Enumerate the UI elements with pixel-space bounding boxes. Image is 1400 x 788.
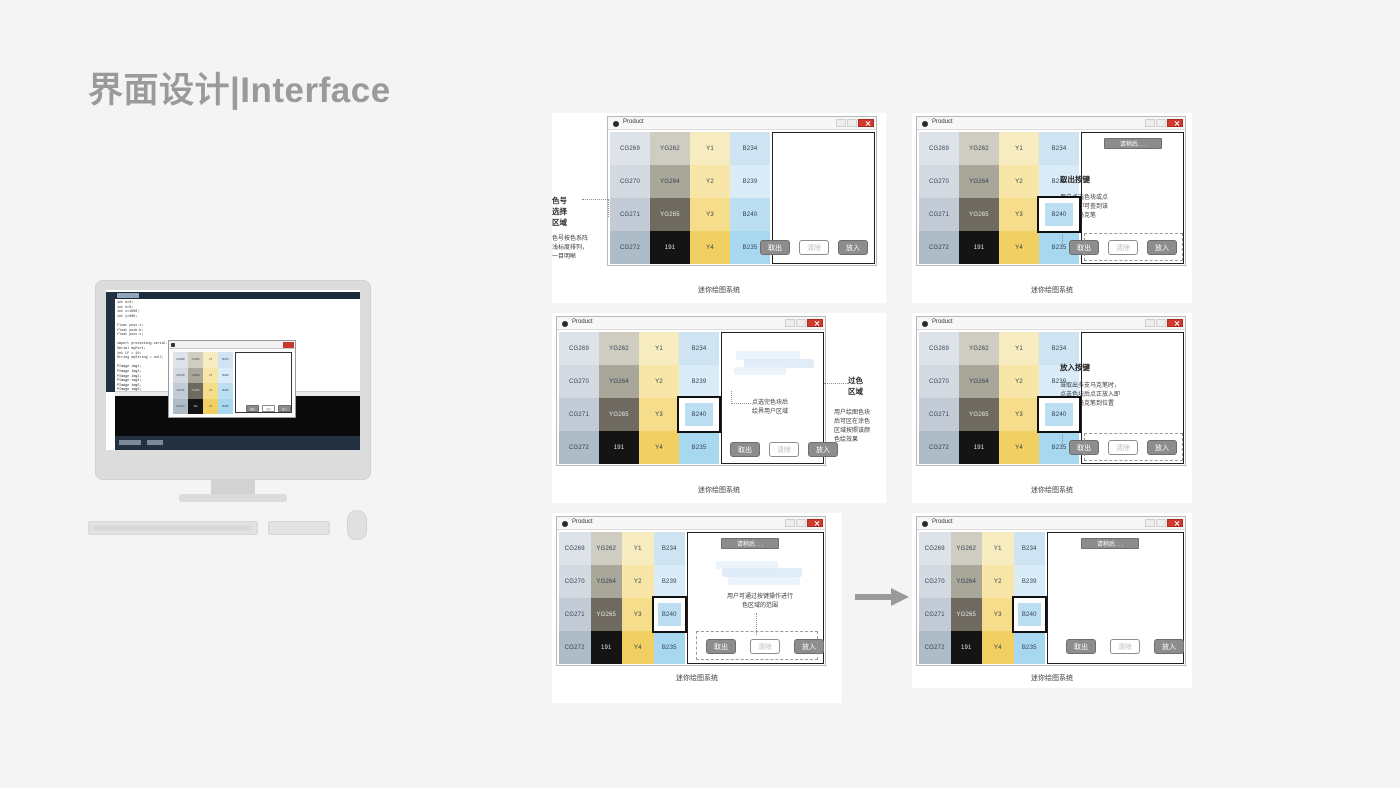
mini-swatch-Y3[interactable]: Y3 xyxy=(203,383,218,399)
swatch-CG271[interactable]: CG271 xyxy=(919,598,951,631)
clear-button[interactable]: 清除 xyxy=(769,442,799,457)
swatch-YG264[interactable]: YG264 xyxy=(591,565,623,598)
mouse xyxy=(347,510,367,540)
status-chip xyxy=(119,440,141,445)
take-out-button[interactable]: 取出 xyxy=(760,240,790,255)
swatch-CG271[interactable]: CG271 xyxy=(610,198,650,231)
swatch-Y4[interactable]: Y4 xyxy=(639,431,679,464)
close-icon[interactable] xyxy=(1167,119,1183,127)
swatch-grid[interactable]: CG269YG262Y1B234CG270YG264Y2B239CG271YG2… xyxy=(919,332,1079,464)
swatch-label: CG271 xyxy=(565,612,585,618)
swatch-label: Y1 xyxy=(994,546,1002,552)
swatch-Y3[interactable]: Y3 xyxy=(622,598,654,631)
swatch-label: Y4 xyxy=(706,245,714,251)
swatch-Y3[interactable]: Y3 xyxy=(999,398,1039,431)
swatch-Y1[interactable]: Y1 xyxy=(639,332,679,365)
swatch-label: YG264 xyxy=(660,179,680,185)
drawing-canvas[interactable]: 请稍后. . . 用户可通过按键操作进行 色区域的范围 取出 清除 放入 xyxy=(687,532,824,664)
mini-swatch-B235[interactable]: B235 xyxy=(218,399,233,415)
swatch-label: CG271 xyxy=(620,212,640,218)
swatch-191[interactable]: 191 xyxy=(650,231,690,264)
annotation-heading: 放入按键 xyxy=(1060,362,1156,373)
window-titlebar: Product xyxy=(608,117,876,130)
swatch-Y4[interactable]: Y4 xyxy=(622,631,654,664)
swatch-Y4[interactable]: Y4 xyxy=(690,231,730,264)
swatch-CG269[interactable]: CG269 xyxy=(919,532,951,565)
swatch-label: CG269 xyxy=(620,146,640,152)
swatch-CG272[interactable]: CG272 xyxy=(559,431,599,464)
swatch-label: Y4 xyxy=(994,645,1002,651)
swatch-Y3[interactable]: Y3 xyxy=(639,398,679,431)
swatch-label: Y2 xyxy=(634,579,642,585)
swatch-label: CG271 xyxy=(925,612,945,618)
window-controls xyxy=(1145,319,1183,327)
swatch-label: B234 xyxy=(662,546,677,552)
swatch-191[interactable]: 191 xyxy=(959,231,999,264)
mini-swatch-YG262[interactable]: YG262 xyxy=(188,352,203,368)
swatch-B234[interactable]: B234 xyxy=(1014,532,1046,565)
swatch-label: CG269 xyxy=(929,346,949,352)
mini-swatch-191[interactable]: 191 xyxy=(188,399,203,415)
swatch-CG270[interactable]: CG270 xyxy=(559,565,591,598)
panel-4: Product CG269YG262Y1B234CG270YG264Y2B239… xyxy=(912,313,1192,503)
swatch-label: 191 xyxy=(961,645,972,651)
swatch-label: Y4 xyxy=(655,445,663,451)
drawing-canvas[interactable]: 请稍后. . . 取出 清除 放入 xyxy=(1047,532,1184,664)
mini-swatch-CG271[interactable]: CG271 xyxy=(173,383,188,399)
swatch-label: CG272 xyxy=(925,645,945,651)
app-window: Product CG269YG262Y1B234CG270YG264Y2B239… xyxy=(556,316,826,466)
app-icon xyxy=(922,521,928,527)
annotation-body: 色号按色系阵 浅标度排列， 一目明晰 xyxy=(552,235,600,262)
window-title: Product xyxy=(932,319,953,325)
swatch-B240[interactable]: B240 xyxy=(730,198,770,231)
swatch-191[interactable]: 191 xyxy=(951,631,983,664)
panel-caption: 迷你绘图系统 xyxy=(552,673,842,683)
swatch-label: B235 xyxy=(662,645,677,651)
swatch-CG270[interactable]: CG270 xyxy=(559,365,599,398)
swatch-label: Y3 xyxy=(655,412,663,418)
app-window: Product CG269YG262Y1B234CG270YG264Y2B239… xyxy=(916,516,1186,666)
swatch-label: Y2 xyxy=(1015,179,1023,185)
window-titlebar: Product xyxy=(917,117,1185,130)
swatch-label: Y2 xyxy=(655,379,663,385)
maximize-icon[interactable] xyxy=(1156,119,1166,127)
swatch-YG264[interactable]: YG264 xyxy=(951,565,983,598)
swatch-CG271[interactable]: CG271 xyxy=(919,398,959,431)
clear-button[interactable]: 清除 xyxy=(1110,639,1140,654)
swatch-label: B234 xyxy=(1022,546,1037,552)
swatch-CG272[interactable]: CG272 xyxy=(919,631,951,664)
swatch-label: CG269 xyxy=(925,546,945,552)
window-title: Product xyxy=(932,119,953,125)
swatch-label: Y1 xyxy=(706,146,714,152)
drawing-canvas[interactable]: 取出 清除 放入 xyxy=(772,132,875,264)
swatch-label: CG270 xyxy=(925,579,945,585)
swatch-B234[interactable]: B234 xyxy=(654,532,686,565)
mini-swatch-B240[interactable]: B240 xyxy=(218,383,233,399)
panel-1: Product CG269YG262Y1B234CG270YG264Y2B239… xyxy=(552,113,886,303)
swatch-Y2[interactable]: Y2 xyxy=(639,365,679,398)
swatch-CG272[interactable]: CG272 xyxy=(919,231,959,264)
swatch-CG269[interactable]: CG269 xyxy=(919,132,959,165)
app-window: Product CG269YG262Y1B234CG270YG264Y2B239… xyxy=(556,516,826,666)
swatch-Y1[interactable]: Y1 xyxy=(999,332,1039,365)
swatch-grid[interactable]: CG269YG262Y1B234CG270YG264Y2B239CG271YG2… xyxy=(919,132,1079,264)
swatch-label: CG270 xyxy=(620,179,640,185)
swatch-label: B235 xyxy=(1052,445,1067,451)
minimize-icon[interactable] xyxy=(785,319,795,327)
highlight-box xyxy=(1084,433,1183,461)
app-icon xyxy=(562,321,568,327)
window-controls xyxy=(785,319,823,327)
swatch-YG264[interactable]: YG264 xyxy=(599,365,639,398)
swatch-B235[interactable]: B235 xyxy=(654,631,686,664)
swatch-B239[interactable]: B239 xyxy=(730,165,770,198)
swatch-CG269[interactable]: CG269 xyxy=(610,132,650,165)
swatch-YG262[interactable]: YG262 xyxy=(650,132,690,165)
swatch-label: CG270 xyxy=(929,379,949,385)
swatch-CG269[interactable]: CG269 xyxy=(559,532,591,565)
close-icon[interactable] xyxy=(283,342,294,348)
swatch-191[interactable]: 191 xyxy=(591,631,623,664)
swatch-Y3[interactable]: Y3 xyxy=(999,198,1039,231)
minimize-icon[interactable] xyxy=(1145,119,1155,127)
mini-swatch-YG265[interactable]: YG265 xyxy=(188,383,203,399)
swatch-label: CG270 xyxy=(565,579,585,585)
swatch-label: 191 xyxy=(665,245,676,251)
swatch-B235[interactable]: B235 xyxy=(679,431,719,464)
swatch-YG265[interactable]: YG265 xyxy=(959,398,999,431)
swatch-Y2[interactable]: Y2 xyxy=(690,165,730,198)
app-icon xyxy=(922,321,928,327)
mini-swatch-Y2[interactable]: Y2 xyxy=(203,368,218,384)
highlight-box xyxy=(1084,233,1183,261)
status-chip xyxy=(147,440,163,445)
close-icon[interactable] xyxy=(858,119,874,127)
swatch-Y2[interactable]: Y2 xyxy=(982,565,1014,598)
swatch-Y4[interactable]: Y4 xyxy=(999,231,1039,264)
swatch-CG271[interactable]: CG271 xyxy=(559,398,599,431)
mini-app-window: CG269YG262Y1B234CG270YG264Y2B239CG271YG2… xyxy=(168,340,296,418)
mini-swatch-YG264[interactable]: YG264 xyxy=(188,368,203,384)
swatch-B239[interactable]: B239 xyxy=(1014,565,1046,598)
swatch-label: Y4 xyxy=(1015,445,1023,451)
swatch-label: YG265 xyxy=(969,412,989,418)
swatch-grid[interactable]: CG269YG262Y1B234CG270YG264Y2B239CG271YG2… xyxy=(559,332,719,464)
leader-line xyxy=(582,199,608,200)
swatch-YG265[interactable]: YG265 xyxy=(951,598,983,631)
swatch-label: YG262 xyxy=(609,346,629,352)
swatch-label: YG264 xyxy=(956,579,976,585)
mini-swatch-Y1[interactable]: Y1 xyxy=(203,352,218,368)
swatch-label: Y2 xyxy=(706,179,714,185)
maximize-icon[interactable] xyxy=(847,119,857,127)
swatch-B240[interactable]: B240 xyxy=(1039,398,1079,431)
swatch-label: YG262 xyxy=(596,546,616,552)
swatch-YG262[interactable]: YG262 xyxy=(599,332,639,365)
swatch-label: YG265 xyxy=(956,612,976,618)
button-row: 取出 清除 放入 xyxy=(1066,639,1184,654)
window-titlebar: Product xyxy=(557,517,825,530)
maximize-icon[interactable] xyxy=(796,319,806,327)
panel-caption: 迷你绘图系统 xyxy=(912,285,1192,295)
window-controls xyxy=(836,119,874,127)
swatch-label: Y2 xyxy=(1015,379,1023,385)
mini-app-titlebar xyxy=(169,341,295,349)
mini-swatch-Y4[interactable]: Y4 xyxy=(203,399,218,415)
ide-tab[interactable] xyxy=(117,293,139,298)
keyboard xyxy=(88,521,258,535)
panel-caption: 迷你绘图系统 xyxy=(912,673,1192,683)
swatch-CG270[interactable]: CG270 xyxy=(610,165,650,198)
swatch-label: B235 xyxy=(692,445,707,451)
mini-clear-button[interactable]: 清除 xyxy=(262,405,275,412)
swatch-B239[interactable]: B239 xyxy=(654,565,686,598)
panel-5: Product CG269YG262Y1B234CG270YG264Y2B239… xyxy=(552,513,842,703)
monitor-body: int w=0; int h=0; int x=1000; int y=600;… xyxy=(95,280,371,480)
minimize-icon[interactable] xyxy=(785,519,795,527)
brush-stroke xyxy=(734,367,786,375)
swatch-Y2[interactable]: Y2 xyxy=(999,365,1039,398)
swatch-label: CG272 xyxy=(929,245,949,251)
mini-swatch-CG272[interactable]: CG272 xyxy=(173,399,188,415)
window-title: Product xyxy=(623,119,644,125)
button-row: 取出 清除 放入 xyxy=(730,442,838,457)
leader-line xyxy=(608,199,609,217)
swatch-label: Y3 xyxy=(706,212,714,218)
swatch-YG264[interactable]: YG264 xyxy=(650,165,690,198)
panel-2: Product CG269YG262Y1B234CG270YG264Y2B239… xyxy=(912,113,1192,303)
swatch-label: B240 xyxy=(743,212,758,218)
swatch-CG269[interactable]: CG269 xyxy=(919,332,959,365)
mini-swatch-grid[interactable]: CG269YG262Y1B234CG270YG264Y2B239CG271YG2… xyxy=(173,352,233,414)
monitor-mockup: int w=0; int h=0; int x=1000; int y=600;… xyxy=(95,280,380,510)
swatch-CG272[interactable]: CG272 xyxy=(610,231,650,264)
swatch-YG262[interactable]: YG262 xyxy=(951,532,983,565)
maximize-icon[interactable] xyxy=(796,519,806,527)
clear-button[interactable]: 清除 xyxy=(799,240,829,255)
window-titlebar: Product xyxy=(557,317,825,330)
swatch-B235[interactable]: B235 xyxy=(1014,631,1046,664)
swatch-label: Y3 xyxy=(634,612,642,618)
monitor-screen: int w=0; int h=0; int x=1000; int y=600;… xyxy=(106,290,360,450)
swatch-YG262[interactable]: YG262 xyxy=(591,532,623,565)
swatch-YG265[interactable]: YG265 xyxy=(591,598,623,631)
close-icon[interactable] xyxy=(807,319,823,327)
side-note-heading: 过色 区域 xyxy=(848,375,884,397)
drawing-canvas[interactable]: 点选完色块后 绘界用户区域 取出 清除 放入 xyxy=(721,332,824,464)
annotation-body: 点选完色块后 绘界用户区域 xyxy=(752,399,818,417)
leader-line xyxy=(824,383,848,384)
take-out-button[interactable]: 取出 xyxy=(1066,639,1096,654)
page-title: 界面设计|Interface xyxy=(88,62,391,113)
mini-take-out-button[interactable]: 取出 xyxy=(246,405,259,412)
swatch-Y1[interactable]: Y1 xyxy=(982,532,1014,565)
put-in-button[interactable]: 放入 xyxy=(838,240,868,255)
swatch-label: B240 xyxy=(662,612,677,618)
swatch-label: Y3 xyxy=(1015,212,1023,218)
swatch-label: Y4 xyxy=(1015,245,1023,251)
swatch-label: CG269 xyxy=(929,146,949,152)
swatch-YG264[interactable]: YG264 xyxy=(959,165,999,198)
brush-stroke xyxy=(722,568,802,577)
swatch-CG271[interactable]: CG271 xyxy=(919,198,959,231)
swatch-grid[interactable]: CG269YG262Y1B234CG270YG264Y2B239CG271YG2… xyxy=(610,132,770,264)
swatch-label: B235 xyxy=(743,245,758,251)
mini-swatch-CG270[interactable]: CG270 xyxy=(173,368,188,384)
swatch-label: B234 xyxy=(1052,146,1067,152)
swatch-CG272[interactable]: CG272 xyxy=(919,431,959,464)
minimize-icon[interactable] xyxy=(836,119,846,127)
swatch-label: Y2 xyxy=(994,579,1002,585)
swatch-B240[interactable]: B240 xyxy=(679,398,719,431)
swatch-CG272[interactable]: CG272 xyxy=(559,631,591,664)
swatch-B240[interactable]: B240 xyxy=(1039,198,1079,231)
loading-tooltip: 请稍后. . . xyxy=(1104,138,1162,149)
ide-gutter xyxy=(106,292,115,392)
swatch-label: B240 xyxy=(1052,412,1067,418)
maximize-icon[interactable] xyxy=(1156,319,1166,327)
swatch-CG270[interactable]: CG270 xyxy=(919,565,951,598)
mini-swatch-B234[interactable]: B234 xyxy=(218,352,233,368)
swatch-label: B240 xyxy=(692,412,707,418)
close-icon[interactable] xyxy=(1167,519,1183,527)
swatch-label: Y3 xyxy=(994,612,1002,618)
mini-canvas[interactable] xyxy=(235,352,292,413)
swatch-label: Y4 xyxy=(634,645,642,651)
swatch-label: CG270 xyxy=(929,179,949,185)
swatch-B240[interactable]: B240 xyxy=(654,598,686,631)
swatch-YG262[interactable]: YG262 xyxy=(959,332,999,365)
panel-caption: 迷你绘图系统 xyxy=(552,485,886,495)
swatch-label: B239 xyxy=(743,179,758,185)
keyboard-keys xyxy=(94,525,252,531)
swatch-B234[interactable]: B234 xyxy=(1039,132,1079,165)
window-title: Product xyxy=(572,519,593,525)
swatch-CG270[interactable]: CG270 xyxy=(919,365,959,398)
swatch-label: YG265 xyxy=(609,412,629,418)
swatch-B234[interactable]: B234 xyxy=(730,132,770,165)
swatch-label: YG264 xyxy=(969,179,989,185)
panel-3: Product CG269YG262Y1B234CG270YG264Y2B239… xyxy=(552,313,886,503)
swatch-YG262[interactable]: YG262 xyxy=(959,132,999,165)
app-window: Product CG269YG262Y1B234CG270YG264Y2B239… xyxy=(607,116,877,266)
swatch-label: CG271 xyxy=(569,412,589,418)
swatch-191[interactable]: 191 xyxy=(959,431,999,464)
swatch-Y2[interactable]: Y2 xyxy=(622,565,654,598)
swatch-Y1[interactable]: Y1 xyxy=(622,532,654,565)
swatch-label: Y3 xyxy=(1015,412,1023,418)
swatch-Y1[interactable]: Y1 xyxy=(999,132,1039,165)
swatch-label: B234 xyxy=(1052,346,1067,352)
swatch-label: 191 xyxy=(601,645,612,651)
swatch-CG270[interactable]: CG270 xyxy=(919,165,959,198)
ide-tab-bar xyxy=(115,292,360,299)
swatch-YG265[interactable]: YG265 xyxy=(650,198,690,231)
swatch-label: Y1 xyxy=(1015,346,1023,352)
leader-line xyxy=(731,403,751,404)
swatch-Y1[interactable]: Y1 xyxy=(690,132,730,165)
annotation-body: 用户可通过按键操作进行 色区域的范围 xyxy=(710,593,810,611)
mini-swatch-B239[interactable]: B239 xyxy=(218,368,233,384)
trackpad xyxy=(268,521,330,535)
swatch-grid[interactable]: CG269YG262Y1B234CG270YG264Y2B239CG271YG2… xyxy=(919,532,1045,664)
swatch-label: CG271 xyxy=(929,212,949,218)
swatch-label: YG262 xyxy=(969,346,989,352)
minimize-icon[interactable] xyxy=(1145,519,1155,527)
maximize-icon[interactable] xyxy=(1156,519,1166,527)
swatch-YG265[interactable]: YG265 xyxy=(959,198,999,231)
minimize-icon[interactable] xyxy=(1145,319,1155,327)
swatch-label: Y1 xyxy=(655,346,663,352)
swatch-label: CG269 xyxy=(569,346,589,352)
mini-swatch-CG269[interactable]: CG269 xyxy=(173,352,188,368)
swatch-YG265[interactable]: YG265 xyxy=(599,398,639,431)
panel-caption: 迷你绘图系统 xyxy=(912,485,1192,495)
swatch-label: B235 xyxy=(1052,245,1067,251)
put-in-button[interactable]: 放入 xyxy=(1154,639,1184,654)
ide-status-bar xyxy=(115,436,360,450)
swatch-label: 191 xyxy=(614,445,625,451)
swatch-CG269[interactable]: CG269 xyxy=(559,332,599,365)
swatch-191[interactable]: 191 xyxy=(599,431,639,464)
swatch-label: CG271 xyxy=(929,412,949,418)
swatch-label: 191 xyxy=(974,445,985,451)
loading-tooltip: 请稍后. . . xyxy=(1081,538,1139,549)
side-note-body: 用户绘图色块 后可区在涂色 区域按照该颜 色绘效果 xyxy=(834,409,884,445)
swatch-label: B234 xyxy=(692,346,707,352)
app-icon xyxy=(922,121,928,127)
swatch-label: Y1 xyxy=(1015,146,1023,152)
swatch-label: YG265 xyxy=(660,212,680,218)
swatch-label: B235 xyxy=(1022,645,1037,651)
swatch-Y4[interactable]: Y4 xyxy=(999,431,1039,464)
loading-tooltip: 请稍后. . . xyxy=(721,538,779,549)
swatch-label: B239 xyxy=(662,579,677,585)
window-controls xyxy=(785,519,823,527)
app-icon xyxy=(562,521,568,527)
swatch-label: Y1 xyxy=(634,546,642,552)
close-icon[interactable] xyxy=(1167,319,1183,327)
panel-caption: 迷你绘图系统 xyxy=(552,285,886,295)
swatch-Y3[interactable]: Y3 xyxy=(982,598,1014,631)
swatch-label: YG264 xyxy=(596,579,616,585)
swatch-label: YG262 xyxy=(956,546,976,552)
swatch-CG271[interactable]: CG271 xyxy=(559,598,591,631)
close-icon[interactable] xyxy=(807,519,823,527)
swatch-label: CG272 xyxy=(929,445,949,451)
swatch-B240[interactable]: B240 xyxy=(1014,598,1046,631)
window-title: Product xyxy=(932,519,953,525)
swatch-grid[interactable]: CG269YG262Y1B234CG270YG264Y2B239CG271YG2… xyxy=(559,532,685,664)
mini-put-in-button[interactable]: 放入 xyxy=(278,405,291,412)
annotation-heading: 取出按键 xyxy=(1060,174,1150,185)
leader-line xyxy=(731,391,732,404)
swatch-B234[interactable]: B234 xyxy=(679,332,719,365)
swatch-label: 191 xyxy=(974,245,985,251)
swatch-label: YG265 xyxy=(969,212,989,218)
swatch-Y2[interactable]: Y2 xyxy=(999,165,1039,198)
swatch-label: YG262 xyxy=(660,146,680,152)
window-titlebar: Product xyxy=(917,317,1185,330)
swatch-YG264[interactable]: YG264 xyxy=(959,365,999,398)
swatch-Y4[interactable]: Y4 xyxy=(982,631,1014,664)
swatch-label: YG264 xyxy=(609,379,629,385)
swatch-Y3[interactable]: Y3 xyxy=(690,198,730,231)
take-out-button[interactable]: 取出 xyxy=(730,442,760,457)
swatch-B239[interactable]: B239 xyxy=(679,365,719,398)
